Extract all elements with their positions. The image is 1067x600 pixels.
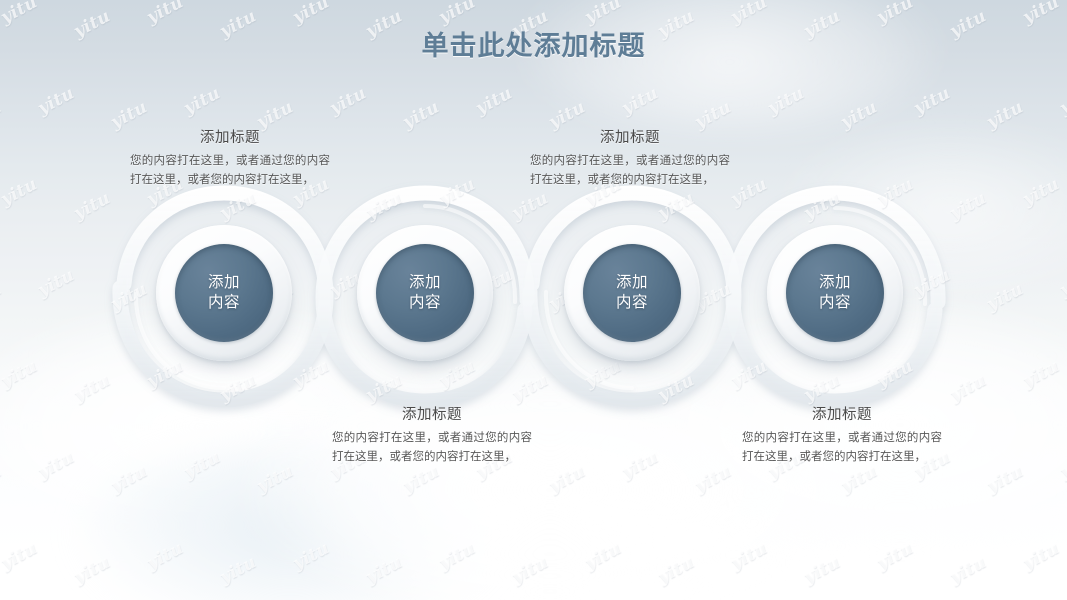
text-block-3-body: 您的内容打在这里，或者通过您的内容打在这里，或者您的内容打在这里， bbox=[332, 429, 532, 466]
watermark-text: yitu bbox=[728, 356, 771, 392]
watermark-text: yitu bbox=[436, 174, 479, 210]
watermark-text: yitu bbox=[838, 97, 881, 133]
text-block-1-title: 添加标题 bbox=[130, 126, 330, 147]
node-circle-3-line1: 添加 bbox=[616, 273, 648, 293]
watermark-text: yitu bbox=[217, 370, 260, 406]
watermark-text: yitu bbox=[0, 279, 5, 315]
node-circle-1[interactable]: 添加 内容 bbox=[156, 225, 292, 361]
slide-canvas: yituyituyituyituyituyituyituyituyituyitu… bbox=[0, 0, 1067, 600]
watermark-text: yitu bbox=[473, 83, 516, 119]
watermark-text: yitu bbox=[619, 83, 662, 119]
watermark-text: yitu bbox=[801, 552, 844, 588]
watermark-text: yitu bbox=[35, 447, 78, 483]
watermark-text: yitu bbox=[1057, 83, 1067, 119]
watermark-text: yitu bbox=[582, 538, 625, 574]
watermark-text: yitu bbox=[728, 538, 771, 574]
watermark-text: yitu bbox=[1020, 174, 1063, 210]
watermark-text: yitu bbox=[838, 461, 881, 497]
watermark-text: yitu bbox=[801, 370, 844, 406]
node-circle-2-line1: 添加 bbox=[409, 273, 441, 293]
watermark-text: yitu bbox=[71, 552, 114, 588]
watermark-text: yitu bbox=[947, 188, 990, 224]
watermark-text: yitu bbox=[35, 265, 78, 301]
watermark-text: yitu bbox=[363, 370, 406, 406]
text-block-4-body: 您的内容打在这里，或者通过您的内容打在这里，或者您的内容打在这里， bbox=[742, 429, 942, 466]
watermark-text: yitu bbox=[546, 461, 589, 497]
watermark-text: yitu bbox=[0, 97, 5, 133]
watermark-text: yitu bbox=[71, 188, 114, 224]
watermark-text: yitu bbox=[181, 447, 224, 483]
watermark-text: yitu bbox=[911, 265, 954, 301]
text-block-2[interactable]: 添加标题 您的内容打在这里，或者通过您的内容打在这里，或者您的内容打在这里， bbox=[530, 126, 730, 189]
watermark-text: yitu bbox=[947, 552, 990, 588]
watermark-text: yitu bbox=[801, 188, 844, 224]
cloud-haze-top bbox=[520, 0, 940, 130]
node-circle-4-label: 添加 内容 bbox=[786, 244, 884, 342]
watermark-text: yitu bbox=[1020, 538, 1063, 574]
watermark-text: yitu bbox=[217, 552, 260, 588]
text-block-3[interactable]: 添加标题 您的内容打在这里，或者通过您的内容打在这里，或者您的内容打在这里， bbox=[332, 403, 532, 466]
watermark-text: yitu bbox=[363, 552, 406, 588]
watermark-text: yitu bbox=[108, 461, 151, 497]
watermark-text: yitu bbox=[0, 461, 5, 497]
text-block-4-title: 添加标题 bbox=[742, 403, 942, 424]
node-circle-1-line2: 内容 bbox=[208, 293, 240, 313]
text-block-1-body: 您的内容打在这里，或者通过您的内容打在这里，或者您的内容打在这里， bbox=[130, 152, 330, 189]
watermark-text: yitu bbox=[509, 370, 552, 406]
page-title: 单击此处添加标题 bbox=[0, 24, 1067, 63]
watermark-text: yitu bbox=[1057, 265, 1067, 301]
watermark-text: yitu bbox=[71, 370, 114, 406]
watermark-text: yitu bbox=[144, 356, 187, 392]
text-block-2-title: 添加标题 bbox=[530, 126, 730, 147]
watermark-text: yitu bbox=[436, 538, 479, 574]
watermark-text: yitu bbox=[728, 174, 771, 210]
text-block-3-title: 添加标题 bbox=[332, 403, 532, 424]
node-circle-3-line2: 内容 bbox=[616, 293, 648, 313]
watermark-text: yitu bbox=[874, 174, 917, 210]
node-circle-4-line1: 添加 bbox=[819, 273, 851, 293]
node-circle-2[interactable]: 添加 内容 bbox=[357, 225, 493, 361]
watermark-text: yitu bbox=[1057, 447, 1067, 483]
watermark-text: yitu bbox=[874, 356, 917, 392]
watermark-text: yitu bbox=[363, 188, 406, 224]
node-circle-4-line2: 内容 bbox=[819, 293, 851, 313]
watermark-text: yitu bbox=[181, 83, 224, 119]
watermark-text: yitu bbox=[327, 83, 370, 119]
watermark-text: yitu bbox=[290, 356, 333, 392]
node-circle-1-line1: 添加 bbox=[208, 273, 240, 293]
watermark-text: yitu bbox=[911, 83, 954, 119]
watermark-text: yitu bbox=[655, 370, 698, 406]
watermark-text: yitu bbox=[655, 552, 698, 588]
node-circle-2-line2: 内容 bbox=[409, 293, 441, 313]
text-block-1[interactable]: 添加标题 您的内容打在这里，或者通过您的内容打在这里，或者您的内容打在这里， bbox=[130, 126, 330, 189]
watermark-text: yitu bbox=[765, 83, 808, 119]
watermark-text: yitu bbox=[655, 188, 698, 224]
node-circle-4[interactable]: 添加 内容 bbox=[767, 225, 903, 361]
node-circle-2-label: 添加 内容 bbox=[376, 244, 474, 342]
watermark-text: yitu bbox=[144, 538, 187, 574]
watermark-text: yitu bbox=[217, 188, 260, 224]
watermark-text: yitu bbox=[254, 461, 297, 497]
watermark-text: yitu bbox=[108, 279, 151, 315]
watermark-text: yitu bbox=[509, 552, 552, 588]
watermark-text: yitu bbox=[400, 97, 443, 133]
text-block-4[interactable]: 添加标题 您的内容打在这里，或者通过您的内容打在这里，或者您的内容打在这里， bbox=[742, 403, 942, 466]
watermark-text: yitu bbox=[984, 97, 1027, 133]
watermark-text: yitu bbox=[984, 461, 1027, 497]
watermark-text: yitu bbox=[0, 356, 41, 392]
watermark-text: yitu bbox=[290, 538, 333, 574]
cloud-haze-center bbox=[240, 360, 860, 600]
watermark-text: yitu bbox=[0, 174, 41, 210]
watermark-text: yitu bbox=[984, 279, 1027, 315]
node-circle-3-label: 添加 内容 bbox=[583, 244, 681, 342]
watermark-text: yitu bbox=[619, 447, 662, 483]
text-block-2-body: 您的内容打在这里，或者通过您的内容打在这里，或者您的内容打在这里， bbox=[530, 152, 730, 189]
watermark-text: yitu bbox=[400, 461, 443, 497]
watermark-text: yitu bbox=[582, 356, 625, 392]
watermark-text: yitu bbox=[692, 461, 735, 497]
node-circle-3[interactable]: 添加 内容 bbox=[564, 225, 700, 361]
watermark-text: yitu bbox=[0, 538, 41, 574]
watermark-text: yitu bbox=[874, 538, 917, 574]
node-circle-1-label: 添加 内容 bbox=[175, 244, 273, 342]
watermark-text: yitu bbox=[1020, 356, 1063, 392]
watermark-text: yitu bbox=[35, 83, 78, 119]
watermark-text: yitu bbox=[509, 188, 552, 224]
watermark-text: yitu bbox=[436, 356, 479, 392]
watermark-text: yitu bbox=[947, 370, 990, 406]
